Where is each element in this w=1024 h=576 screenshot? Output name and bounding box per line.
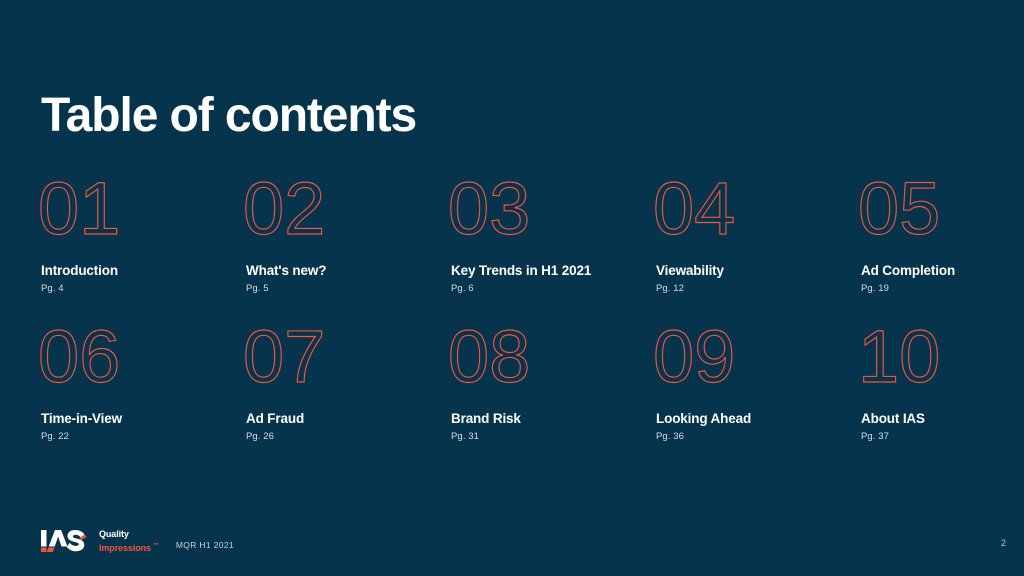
toc-label: Ad Fraud bbox=[246, 411, 451, 427]
toc-entry-03[interactable]: 03 Key Trends in H1 2021 Pg. 6 bbox=[451, 172, 656, 295]
toc-entry-05[interactable]: 05 Ad Completion Pg. 19 bbox=[861, 172, 1024, 295]
toc-entry-01[interactable]: 01 Introduction Pg. 4 bbox=[41, 172, 246, 295]
toc-page-ref: Pg. 26 bbox=[246, 431, 451, 443]
toc-number-glyph: 08 bbox=[448, 315, 530, 398]
toc-number-07: 07 bbox=[243, 320, 451, 396]
toc-number-05: 05 bbox=[858, 172, 1024, 248]
footer-tagline-impressions-text: Impressions bbox=[99, 543, 151, 553]
toc-entry-02[interactable]: 02 What's new? Pg. 5 bbox=[246, 172, 451, 295]
toc-number-glyph: 02 bbox=[243, 167, 325, 250]
toc-row: 01 Introduction Pg. 4 02 What's new? Pg.… bbox=[41, 172, 983, 295]
ias-logo-icon bbox=[41, 530, 87, 552]
footer-tagline-quality: Quality bbox=[99, 529, 159, 540]
footer-report-name: MQR H1 2021 bbox=[176, 540, 234, 550]
toc-entry-08[interactable]: 08 Brand Risk Pg. 31 bbox=[451, 320, 656, 443]
toc-page-ref: Pg. 6 bbox=[451, 283, 656, 295]
toc-number-04: 04 bbox=[653, 172, 861, 248]
page-number: 2 bbox=[1001, 538, 1006, 548]
toc-label: Viewability bbox=[656, 263, 861, 279]
toc-page-ref: Pg. 12 bbox=[656, 283, 861, 295]
toc-number-08: 08 bbox=[448, 320, 656, 396]
toc-label: Brand Risk bbox=[451, 411, 656, 427]
toc-label: Time-in-View bbox=[41, 411, 246, 427]
toc-number-06: 06 bbox=[38, 320, 246, 396]
toc-number-glyph: 06 bbox=[38, 315, 120, 398]
toc-page-ref: Pg. 4 bbox=[41, 283, 246, 295]
toc-label: About IAS bbox=[861, 411, 1024, 427]
toc-number-glyph: 01 bbox=[38, 167, 120, 250]
footer-tagline-impressions: Impressions™ bbox=[99, 541, 159, 554]
toc-page-ref: Pg. 37 bbox=[861, 431, 1024, 443]
toc-label: Introduction bbox=[41, 263, 246, 279]
toc-number-glyph: 05 bbox=[858, 167, 940, 250]
toc-number-02: 02 bbox=[243, 172, 451, 248]
footer: Quality Impressions™ MQR H1 2021 bbox=[41, 528, 234, 554]
toc-label: Key Trends in H1 2021 bbox=[451, 263, 656, 279]
toc-page-ref: Pg. 19 bbox=[861, 283, 1024, 295]
toc-entry-06[interactable]: 06 Time-in-View Pg. 22 bbox=[41, 320, 246, 443]
toc-page-ref: Pg. 5 bbox=[246, 283, 451, 295]
toc-number-glyph: 10 bbox=[858, 315, 940, 398]
toc-label: Ad Completion bbox=[861, 263, 1024, 279]
table-of-contents-grid: 01 Introduction Pg. 4 02 What's new? Pg.… bbox=[41, 172, 983, 443]
toc-number-03: 03 bbox=[448, 172, 656, 248]
toc-number-glyph: 04 bbox=[653, 167, 735, 250]
toc-number-09: 09 bbox=[653, 320, 861, 396]
slide-root: Table of contents 01 Introduction Pg. 4 … bbox=[0, 0, 1024, 576]
toc-page-ref: Pg. 31 bbox=[451, 431, 656, 443]
toc-page-ref: Pg. 22 bbox=[41, 431, 246, 443]
toc-page-ref: Pg. 36 bbox=[656, 431, 861, 443]
toc-entry-10[interactable]: 10 About IAS Pg. 37 bbox=[861, 320, 1024, 443]
toc-entry-09[interactable]: 09 Looking Ahead Pg. 36 bbox=[656, 320, 861, 443]
footer-tagline: Quality Impressions™ bbox=[99, 529, 159, 554]
toc-number-glyph: 09 bbox=[653, 315, 735, 398]
page-title: Table of contents bbox=[41, 86, 416, 146]
toc-number-01: 01 bbox=[38, 172, 246, 248]
toc-label: Looking Ahead bbox=[656, 411, 861, 427]
trademark-icon: ™ bbox=[153, 543, 159, 549]
toc-number-glyph: 03 bbox=[448, 167, 530, 250]
toc-number-10: 10 bbox=[858, 320, 1024, 396]
toc-entry-04[interactable]: 04 Viewability Pg. 12 bbox=[656, 172, 861, 295]
toc-entry-07[interactable]: 07 Ad Fraud Pg. 26 bbox=[246, 320, 451, 443]
toc-row: 06 Time-in-View Pg. 22 07 Ad Fraud Pg. 2… bbox=[41, 320, 983, 443]
toc-number-glyph: 07 bbox=[243, 315, 325, 398]
toc-label: What's new? bbox=[246, 263, 451, 279]
